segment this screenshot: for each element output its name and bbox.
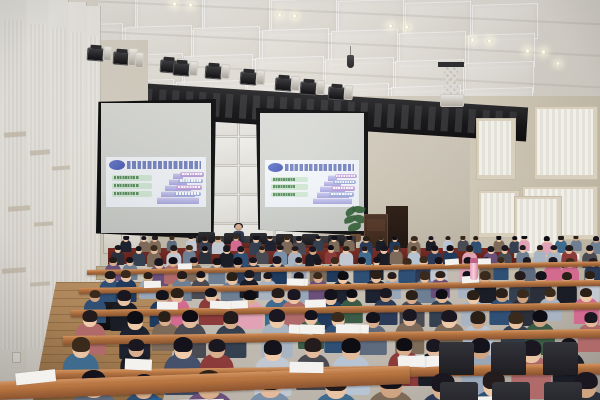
pyramid-label-3 <box>331 186 355 190</box>
handout-paper <box>157 301 178 309</box>
person-hair <box>215 236 221 240</box>
person-hair <box>393 245 399 250</box>
recessed-downlight <box>388 24 393 28</box>
person-hair <box>517 289 529 299</box>
slide-title-text <box>127 161 201 169</box>
recessed-downlight <box>541 50 546 54</box>
person-hair <box>109 257 117 263</box>
person-hair <box>363 236 369 241</box>
person-hair <box>259 246 265 251</box>
right-screen-slide <box>265 160 359 207</box>
truss-slot <box>454 108 462 132</box>
auditorium-chair <box>440 382 478 400</box>
truss-slot <box>467 109 475 133</box>
person-hair <box>586 245 594 251</box>
person-hair <box>550 245 557 251</box>
recessed-downlight <box>292 14 297 18</box>
auditorium-chair <box>439 342 475 376</box>
handout-paper <box>125 359 152 371</box>
plant-leaf <box>348 222 362 231</box>
handout-paper <box>289 362 323 373</box>
person-hair <box>292 246 299 252</box>
person-hair <box>264 340 282 355</box>
par-can-light <box>255 70 265 86</box>
person-hair <box>202 236 208 241</box>
person-hair <box>574 236 579 239</box>
pyramid-label-2 <box>178 179 203 184</box>
person-hair <box>519 245 526 250</box>
person-hair <box>295 257 302 263</box>
person-hair <box>431 245 439 251</box>
person-hair <box>213 258 222 265</box>
person-hair <box>277 245 284 250</box>
person-hair <box>543 236 549 241</box>
person-hair <box>72 337 90 351</box>
person-hair <box>371 271 382 279</box>
slide-bullet-1 <box>112 175 152 181</box>
person-hair <box>152 236 158 240</box>
person-hair <box>565 245 573 251</box>
par-can-light <box>220 64 230 80</box>
person-hair <box>366 312 380 323</box>
recessed-downlight <box>188 3 193 7</box>
person-hair <box>373 257 380 263</box>
person-hair <box>105 271 115 279</box>
left-projection-screen <box>96 99 216 239</box>
auditorium-chair <box>492 382 530 400</box>
person-hair <box>558 236 564 240</box>
person-hair <box>388 272 397 279</box>
person-hair <box>128 339 143 351</box>
person-hair <box>428 236 433 240</box>
person-hair <box>208 339 225 353</box>
person-hair <box>411 236 417 241</box>
ceiling-projector-scissor-lift <box>438 62 464 108</box>
left-screen-slide <box>106 157 206 207</box>
recessed-downlight <box>525 49 530 53</box>
person-hair <box>223 311 238 323</box>
lecture-hall-photo <box>0 0 600 400</box>
person-hair <box>169 257 178 264</box>
par-can-light <box>315 80 325 96</box>
person-hair <box>196 271 205 278</box>
par-can-light <box>188 61 198 77</box>
handout-paper <box>287 279 305 286</box>
slide-title-text <box>285 164 355 172</box>
person-hair <box>411 246 417 251</box>
person-hair <box>419 271 429 279</box>
person-hair <box>537 245 543 250</box>
person-hair <box>342 338 361 353</box>
pyramid-label-3 <box>176 185 202 190</box>
person-hair <box>402 309 417 321</box>
person-hair <box>487 246 494 252</box>
person-hair <box>466 245 474 251</box>
bottle-cap <box>470 258 478 263</box>
person-hair <box>89 290 100 299</box>
person-hair <box>324 289 337 300</box>
truss-slot <box>238 94 246 118</box>
handout-paper <box>304 299 325 308</box>
person-hair <box>496 288 508 298</box>
person-hair <box>585 312 598 322</box>
person-hair <box>135 246 142 251</box>
pyramid-tier-5 <box>157 197 199 204</box>
right-wall-acoustic-panel <box>537 109 593 175</box>
person-hair <box>593 236 599 241</box>
person-hair <box>512 236 518 240</box>
person-hair <box>313 272 322 279</box>
slide-bullet-3 <box>112 191 152 197</box>
slide-bullet-2 <box>112 183 152 189</box>
recessed-downlight <box>404 25 409 29</box>
person-hair <box>158 311 171 321</box>
pyramid-label-1 <box>335 174 358 178</box>
person-hair <box>471 311 486 323</box>
person-hair <box>380 245 388 251</box>
person-hair <box>253 236 259 240</box>
person-hair <box>83 310 98 322</box>
person-hair <box>343 246 350 251</box>
person-hair <box>441 310 457 323</box>
person-hair <box>305 310 318 320</box>
auditorium-chair <box>543 342 579 376</box>
person-hair <box>532 310 547 322</box>
person-hair <box>273 256 282 263</box>
slide-title-badge <box>109 160 125 170</box>
pink-water-bottle <box>470 258 478 280</box>
auditorium-chair <box>544 382 582 400</box>
handout-paper <box>144 281 162 288</box>
person-hair <box>296 236 302 241</box>
person-hair <box>436 289 449 299</box>
person-hair <box>284 236 290 240</box>
person-hair <box>177 271 187 279</box>
person-hair <box>304 338 321 352</box>
person-hair <box>467 290 479 299</box>
person-hair <box>309 246 317 252</box>
slide-title-badge <box>268 163 283 172</box>
scissor-arms <box>444 67 458 95</box>
person-hair <box>585 271 595 279</box>
person-hair <box>249 257 257 263</box>
person-hair <box>473 236 479 240</box>
person-hair <box>562 272 572 280</box>
pyramid-label-4 <box>329 192 354 196</box>
person-hair <box>331 312 345 323</box>
projector-body <box>440 94 464 107</box>
handout-paper <box>336 324 360 334</box>
person-hair <box>501 245 508 251</box>
person-hair <box>115 245 122 250</box>
person-hair <box>117 290 131 301</box>
person-hair <box>396 338 412 350</box>
person-hair <box>150 245 157 251</box>
person-hair <box>358 257 367 264</box>
slide-bullet-3 <box>271 192 309 197</box>
truss-slot <box>373 103 381 127</box>
person-hair <box>169 236 174 240</box>
handout-paper <box>209 300 230 309</box>
pyramid-label-4 <box>174 192 201 197</box>
slide-bullet-1 <box>271 177 309 182</box>
slide-bullet-2 <box>271 184 309 189</box>
person-hair <box>480 271 490 279</box>
pyramid-label-2 <box>333 180 357 184</box>
person-hair <box>205 288 217 298</box>
person-hair <box>378 236 383 240</box>
person-hair <box>202 246 208 251</box>
person-hair <box>331 257 339 264</box>
person-hair <box>243 290 256 300</box>
person-hair <box>174 337 193 352</box>
person-hair <box>182 310 198 323</box>
person-hair <box>316 236 321 239</box>
person-hair <box>186 245 192 250</box>
handout-paper <box>477 259 491 265</box>
person-hair <box>515 271 526 280</box>
person-hair <box>288 289 301 299</box>
person-hair <box>436 271 445 278</box>
person-hair <box>536 271 547 280</box>
person-hair <box>447 245 454 250</box>
recessed-downlight <box>487 39 492 43</box>
recessed-downlight <box>277 13 282 17</box>
par-can-light <box>343 85 353 101</box>
par-can-light <box>135 52 145 68</box>
person-hair <box>245 270 254 277</box>
person-hair <box>508 312 523 324</box>
pendant-ceiling-speaker <box>347 55 354 68</box>
person-hair <box>269 309 285 322</box>
person-hair <box>337 271 348 280</box>
person-hair <box>170 245 178 251</box>
person-hair <box>237 246 244 252</box>
person-hair <box>171 288 183 298</box>
pyramid-label-1 <box>180 172 204 177</box>
person-hair <box>188 236 193 239</box>
person-hair <box>144 272 153 279</box>
par-can-light <box>102 46 112 62</box>
person-hair <box>419 256 428 263</box>
person-hair <box>126 257 133 263</box>
person-hair <box>121 270 131 278</box>
person-hair <box>328 245 334 250</box>
person-hair <box>154 258 163 265</box>
seated-audience <box>0 236 600 400</box>
person-hair <box>223 245 231 251</box>
person-hair <box>379 288 391 298</box>
person-hair <box>263 272 272 279</box>
truss-slot <box>225 94 233 118</box>
person-hair <box>346 289 357 298</box>
right-wall-acoustic-panel <box>479 121 511 175</box>
person-hair <box>127 311 143 323</box>
truss-slot <box>427 106 435 130</box>
recessed-downlight <box>172 2 177 6</box>
presenter-head <box>235 224 242 231</box>
truss-slot <box>440 107 448 131</box>
handout-paper <box>179 264 193 270</box>
pyramid-tier-5 <box>313 198 352 204</box>
person-hair <box>435 257 444 264</box>
truss-slot <box>400 105 408 129</box>
person-hair <box>580 288 592 298</box>
person-hair <box>445 236 450 240</box>
person-hair <box>406 290 418 300</box>
truss-slot <box>387 104 395 128</box>
person-hair <box>233 257 242 264</box>
recessed-downlight <box>470 38 475 42</box>
person-hair <box>545 288 556 297</box>
truss-slot <box>414 105 422 129</box>
handout-paper <box>299 324 323 334</box>
person-hair <box>361 246 367 251</box>
person-hair <box>227 272 238 281</box>
right-wall-acoustic-panel <box>481 193 515 233</box>
person-hair <box>314 258 322 265</box>
person-hair <box>392 236 398 240</box>
